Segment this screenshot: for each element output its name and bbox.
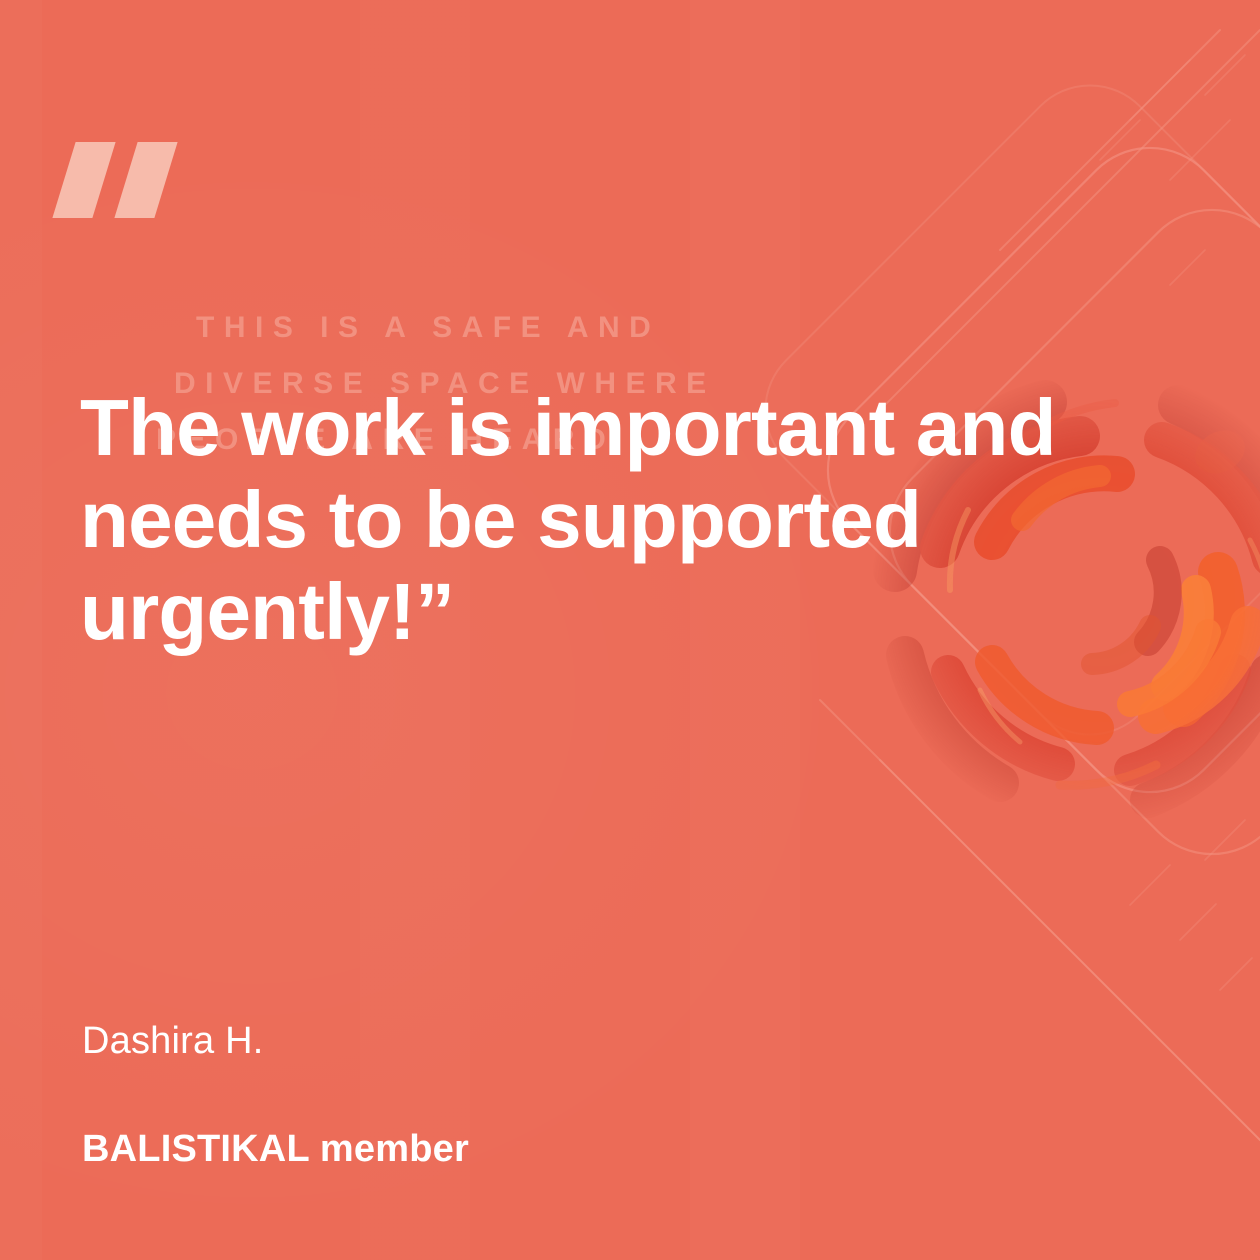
watermark-line-1: THIS IS A SAFE AND xyxy=(196,311,660,344)
quote-bar-left xyxy=(52,142,115,218)
quote-bar-right xyxy=(114,142,177,218)
double-quote-open-icon xyxy=(46,142,186,218)
attribution-role: BALISTIKAL member xyxy=(82,1128,469,1171)
attribution-name: Dashira H. xyxy=(82,1020,264,1063)
quote-text: The work is important and needs to be su… xyxy=(80,382,1110,658)
testimonial-card: THIS IS A SAFE ANDDIVERSE SPACE WHEREPEO… xyxy=(0,0,1260,1260)
